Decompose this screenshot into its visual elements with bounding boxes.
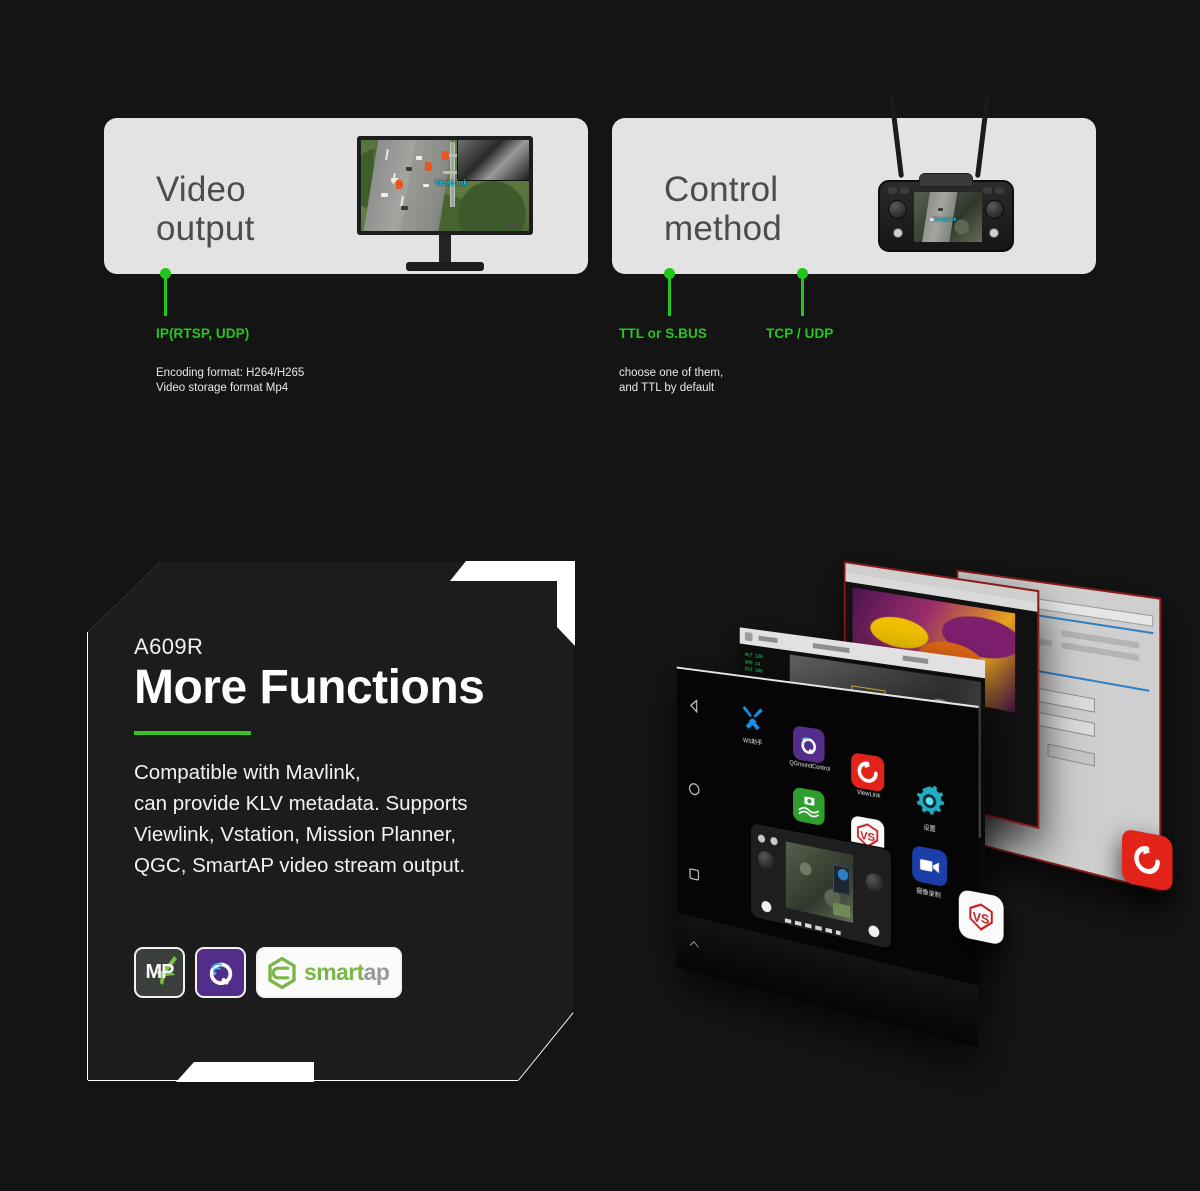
card-control-method-title: Control method xyxy=(664,170,782,248)
heading-underline-rule xyxy=(134,731,251,735)
remote-controller-illustration: ViewLink xyxy=(872,96,1022,252)
vstation-floating-icon[interactable]: VS xyxy=(959,889,1004,946)
app-label-settings: 设置 xyxy=(916,821,943,835)
viewlink-floating-icon[interactable] xyxy=(1122,828,1172,892)
monitor-brand-mark xyxy=(506,224,520,226)
controller-joystick-right[interactable] xyxy=(866,872,884,894)
controller-handle xyxy=(919,173,973,187)
app-icon-mission-planner[interactable] xyxy=(793,787,824,827)
pin-stem xyxy=(668,277,671,316)
smartap-logo-text: smartap xyxy=(304,959,389,986)
shoulder-button-l2[interactable] xyxy=(900,187,909,194)
joystick-right[interactable] xyxy=(985,200,1004,219)
dial-right[interactable] xyxy=(989,228,999,238)
qgc-icon xyxy=(204,956,238,990)
dial-left[interactable] xyxy=(893,228,903,238)
viewlink-icon xyxy=(856,758,879,786)
qgroundcontrol-logo[interactable] xyxy=(195,947,246,998)
monitor-osd-text: ViewLink xyxy=(435,180,468,187)
smartap-text-primary: smart xyxy=(304,959,364,985)
shoulder-button-r1[interactable] xyxy=(983,187,992,194)
controller-screen[interactable]: ViewLink xyxy=(914,192,982,242)
pin-note-control-method: choose one of them, and TTL by default xyxy=(619,366,723,396)
panel-content: A609R More Functions Compatible with Mav… xyxy=(134,634,553,881)
product-model-label: A609R xyxy=(134,634,553,660)
app-label-camera-recorder: 摄像录制 xyxy=(906,883,951,902)
shoulder-button-l1[interactable] xyxy=(888,187,897,194)
software-ecosystem-collage: ALT 120 SPD 14 DIS 380 xyxy=(615,575,1190,1015)
monitor-screen: ViewLink xyxy=(357,136,533,235)
recents-icon[interactable] xyxy=(688,866,700,882)
mission-planner-logo[interactable]: MP xyxy=(134,947,185,998)
compatible-software-logos: MP smart xyxy=(134,947,402,998)
pin-label-ttl-sbus: TTL or S.BUS xyxy=(619,326,707,341)
mission-planner-icon xyxy=(797,791,821,821)
viewlink-icon xyxy=(1132,841,1162,879)
pin-label-ip-rtsp-udp: IP(RTSP, UDP) xyxy=(156,326,249,341)
vstation-icon: VS xyxy=(967,899,995,935)
smartap-hex-icon xyxy=(266,957,298,989)
pin-stem xyxy=(801,277,804,316)
app-icon-qgroundcontrol[interactable] xyxy=(793,725,824,764)
pin-ttl-sbus xyxy=(664,268,676,316)
antenna-right xyxy=(975,96,990,178)
pin-label-tcp-udp: TCP / UDP xyxy=(766,326,833,341)
pin-tcp-udp xyxy=(797,268,809,316)
controller-dial-left[interactable] xyxy=(762,900,772,913)
app-icon-viewlink[interactable] xyxy=(851,752,884,792)
shoulder-button-r2[interactable] xyxy=(995,187,1004,194)
monitor-stand-base xyxy=(406,262,484,271)
smartap-logo[interactable]: smartap xyxy=(256,947,402,998)
app-label-ws-assistant: WS助手 xyxy=(736,734,770,748)
controller-button[interactable] xyxy=(770,837,777,846)
home-icon[interactable] xyxy=(688,781,700,796)
controller-map-screen[interactable] xyxy=(786,841,853,923)
card-video-output: Video output xyxy=(104,118,588,274)
window-menu-icon[interactable] xyxy=(745,632,753,642)
controller-body: ViewLink xyxy=(878,180,1014,252)
thermal-pip-overlay xyxy=(457,140,529,181)
antenna-left xyxy=(889,96,904,178)
settings-gear-icon xyxy=(913,782,946,821)
app-icon-ws-assistant[interactable] xyxy=(738,700,768,738)
tools-wrench-icon xyxy=(739,702,765,735)
page-root: Video output xyxy=(0,0,1200,1191)
panel-heading: More Functions xyxy=(134,662,553,714)
camera-recorder-icon xyxy=(917,851,942,881)
joystick-left[interactable] xyxy=(888,200,907,219)
collage-android-launcher: WS助手 QGroundControl ViewLink xyxy=(677,667,979,1048)
panel-outline-left xyxy=(87,632,88,1080)
monitor-video-frame: ViewLink xyxy=(361,140,529,231)
qgc-icon xyxy=(797,730,821,760)
pin-note-video-output: Encoding format: H264/H265 Video storage… xyxy=(156,366,304,396)
app-label-viewlink: ViewLink xyxy=(847,788,890,802)
controller-joystick-left[interactable] xyxy=(758,850,774,871)
svg-text:VS: VS xyxy=(860,829,875,845)
pin-stem xyxy=(164,277,167,316)
card-control-method: Control method xyxy=(612,118,1096,274)
app-icon-camera-recorder[interactable] xyxy=(912,845,947,888)
card-video-output-title: Video output xyxy=(156,170,255,248)
desktop-monitor-illustration: ViewLink xyxy=(357,136,533,272)
smartap-text-secondary: ap xyxy=(364,959,390,985)
panel-bottom-tab xyxy=(176,1062,314,1082)
app-icon-settings[interactable] xyxy=(912,780,947,822)
telemetry-osd: ALT 120 SPD 14 DIS 380 xyxy=(745,652,763,676)
monitor-stand-neck xyxy=(439,235,451,264)
pin-ip-rtsp-udp xyxy=(160,268,172,316)
controller-led-strip xyxy=(785,918,841,935)
controller-button[interactable] xyxy=(758,834,765,843)
more-functions-panel: A609R More Functions Compatible with Mav… xyxy=(88,562,573,1080)
back-icon[interactable] xyxy=(688,698,700,713)
mission-planner-logo-text: MP xyxy=(146,961,174,984)
controller-dial-right[interactable] xyxy=(869,925,880,939)
panel-body-text: Compatible with Mavlink, can provide KLV… xyxy=(134,757,553,882)
